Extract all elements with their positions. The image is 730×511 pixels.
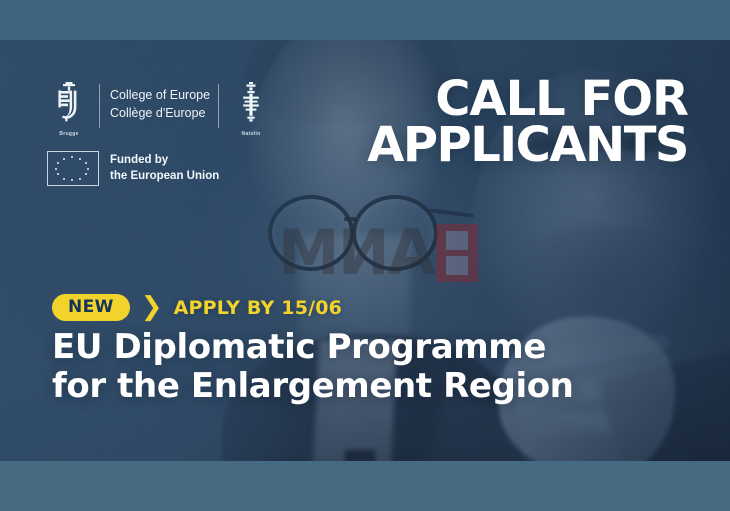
eu-funding-badge: Funded by the European Union (47, 151, 273, 186)
college-name-en: College of Europe (110, 87, 210, 105)
crest-natolin: Natolin (229, 82, 273, 137)
headline: CALL FOR APPLICANTS (367, 76, 688, 168)
college-of-europe-logo: Brugge College of Europe Collège d'Europ… (47, 82, 273, 137)
deadline-text: APPLY BY 15/06 (174, 297, 343, 319)
eu-funding-line-2: the European Union (110, 169, 219, 185)
programme-title-line-2: for the Enlargement Region (52, 367, 573, 406)
programme-title: EU Diplomatic Programme for the Enlargem… (52, 328, 573, 407)
crest-brugge-label: Brugge (59, 131, 78, 137)
logo-divider-right (218, 84, 219, 128)
chevron-right-icon: ❯ (141, 294, 163, 320)
agency-watermark: МИА (278, 222, 478, 284)
crest-brugge: Brugge (47, 82, 91, 137)
programme-title-line-1: EU Diplomatic Programme (52, 328, 573, 367)
college-crest-natolin-icon (238, 82, 264, 128)
logo-divider-left (99, 84, 100, 128)
headline-line-2: APPLICANTS (367, 122, 688, 168)
watermark-logo-icon (436, 224, 478, 282)
promo-poster: МИА (0, 0, 730, 511)
logo-lockup: Brugge College of Europe Collège d'Europ… (47, 82, 273, 186)
headline-line-1: CALL FOR (367, 76, 688, 122)
new-badge: NEW (52, 294, 130, 321)
letterbox-band-bottom (0, 461, 730, 511)
college-of-europe-wordmark: College of Europe Collège d'Europe (110, 82, 210, 123)
eyebrow-row: NEW ❯ APPLY BY 15/06 (52, 294, 342, 321)
eu-funding-text: Funded by the European Union (110, 153, 219, 185)
college-name-fr: Collège d'Europe (110, 105, 210, 123)
eu-flag-icon (47, 151, 99, 186)
eu-funding-line-1: Funded by (110, 153, 219, 169)
college-crest-brugge-icon (54, 82, 84, 128)
crest-natolin-label: Natolin (242, 131, 261, 137)
letterbox-band-top (0, 0, 730, 40)
watermark-text: МИА (278, 222, 434, 284)
